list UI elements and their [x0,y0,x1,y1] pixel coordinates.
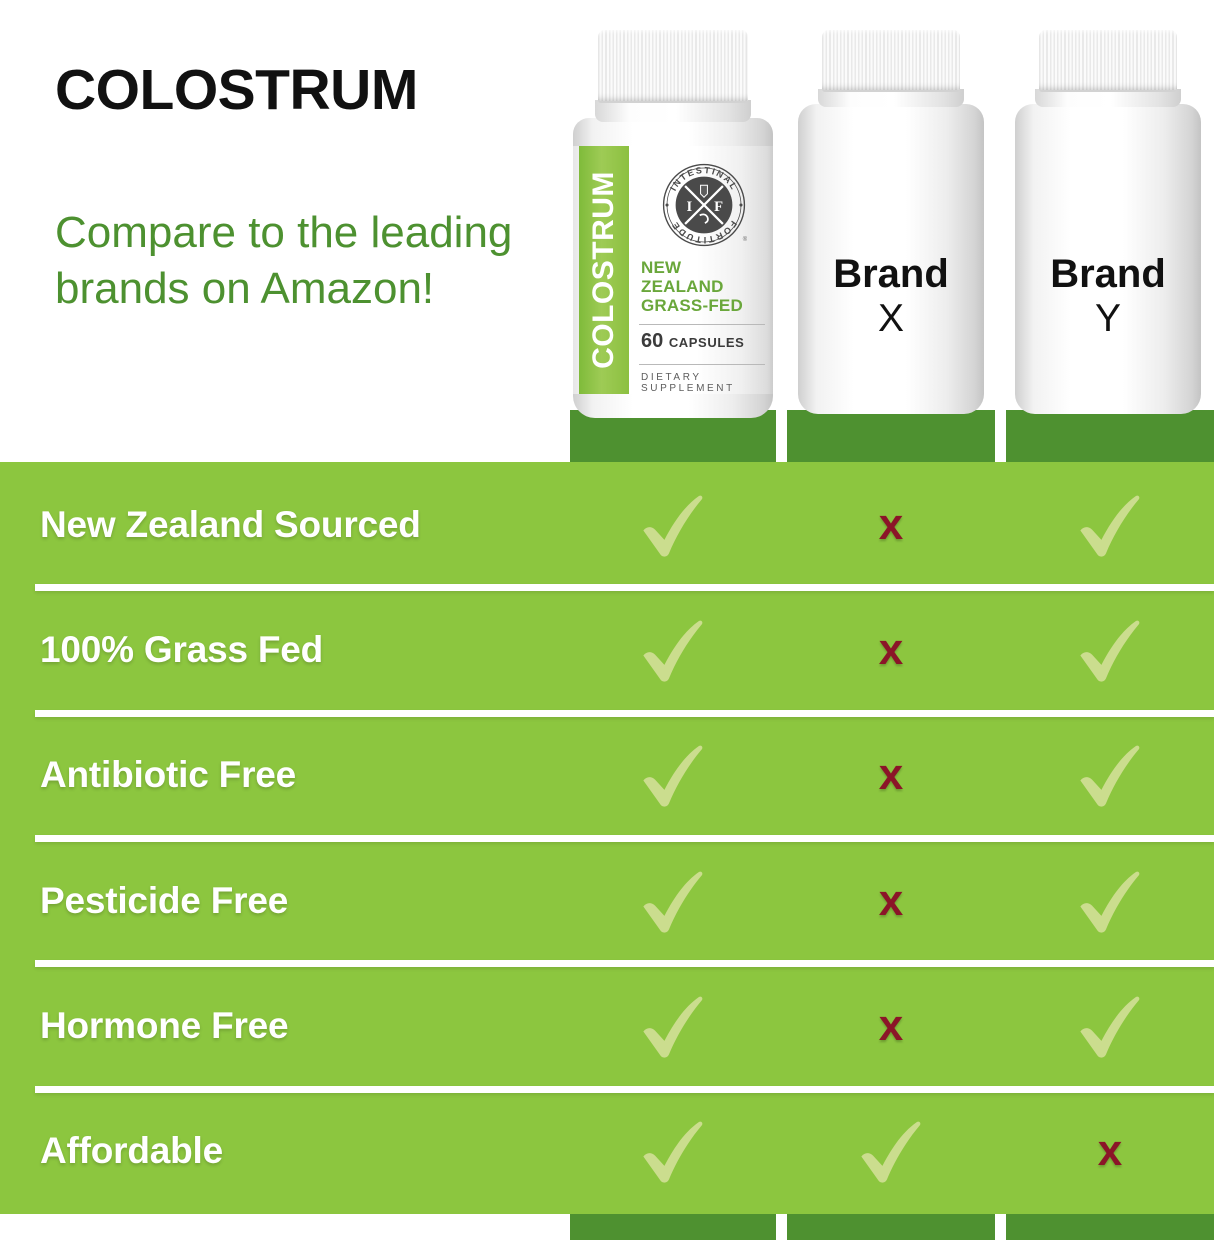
label-capsule-count: 60 CAPSULES [641,330,744,353]
brand-label: Brand Y [1015,252,1201,340]
label-divider-bottom [639,364,765,365]
intestinal-fortitude-logo-icon: INTESTINAL FORTITUDE I F ® [661,162,747,248]
cell-brand-x-no: x [787,713,995,838]
cell-brand-y-yes [1006,838,1214,963]
cell-brand-y-yes [1006,713,1214,838]
check-icon [1071,608,1149,692]
table-row: Pesticide Freex [0,838,1214,963]
brand-name-line-1: Brand [1050,252,1166,296]
comparison-table: New Zealand Sourcedx100% Grass FedxAntib… [0,462,1214,1214]
cell-brand-x-no: x [787,963,995,1088]
brand-label: Brand X [798,252,984,340]
cell-brand-y-yes [1006,462,1214,587]
bottle-body: COLOSTRUM INTESTINAL FORTITUDE [573,118,773,418]
check-icon [1071,483,1149,567]
x-icon: x [879,1004,903,1048]
x-icon: x [879,503,903,547]
cell-brand-x-no: x [787,587,995,712]
cell-colostrum-yes [570,587,776,712]
cell-colostrum-yes [570,963,776,1088]
cell-brand-x-no: x [787,462,995,587]
cell-brand-y-yes [1006,587,1214,712]
label-line-3: GRASS-FED [641,296,763,315]
competitor-bottle-brand-y: Brand Y [1012,26,1204,410]
table-row: Antibiotic Freex [0,713,1214,838]
label-content: INTESTINAL FORTITUDE I F ® [635,146,767,394]
bottle-cap [1039,30,1177,92]
svg-text:®: ® [742,236,746,243]
label-line-2: ZEALAND [641,277,763,296]
feature-label: Pesticide Free [0,880,570,922]
svg-text:F: F [714,199,723,215]
feature-label: New Zealand Sourced [0,504,570,546]
cell-brand-x-no: x [787,838,995,963]
cell-brand-y-yes [1006,963,1214,1088]
x-icon: x [1098,1129,1122,1173]
label-dietary-supplement: DIETARY SUPPLEMENT [641,372,767,394]
cell-colostrum-yes [570,713,776,838]
check-icon [852,1109,930,1193]
feature-label: Antibiotic Free [0,754,570,796]
label-product-descriptor: NEW ZEALAND GRASS-FED [641,258,763,315]
feature-label: Hormone Free [0,1005,570,1047]
bottle-cap [598,30,748,103]
check-icon [634,859,712,943]
bottle-body: Brand X [798,104,984,414]
label-line-1: NEW [641,258,763,277]
svg-text:I: I [686,199,692,215]
bottle-body: Brand Y [1015,104,1201,414]
x-icon: x [879,753,903,797]
competitor-bottle-brand-x: Brand X [795,26,987,410]
bottle-neck [595,100,751,122]
cell-colostrum-yes [570,838,776,963]
check-icon [634,608,712,692]
label-green-stripe: COLOSTRUM [579,146,629,394]
brand-name-line-1: Brand [833,252,949,296]
bottle-cap [822,30,960,92]
product-bottle-colostrum: COLOSTRUM INTESTINAL FORTITUDE [569,22,777,412]
bottle-vertical-name: COLOSTRUM [587,171,621,369]
check-icon [1071,859,1149,943]
cell-brand-y-no: x [1006,1089,1214,1214]
table-row: Affordablex [0,1089,1214,1214]
bottle-label: COLOSTRUM INTESTINAL FORTITUDE [573,146,773,394]
check-icon [1071,984,1149,1068]
check-icon [634,984,712,1068]
x-icon: x [879,879,903,923]
cell-colostrum-yes [570,462,776,587]
check-icon [634,483,712,567]
cell-brand-x-yes [787,1089,995,1214]
capsule-number: 60 [641,330,663,352]
cell-colostrum-yes [570,1089,776,1214]
brand-name-line-2: X [798,297,984,341]
table-row: Hormone Freex [0,963,1214,1088]
page-title: COLOSTRUM [55,62,418,119]
table-row: New Zealand Sourcedx [0,462,1214,587]
label-divider-top [639,324,765,325]
infographic-canvas: COLOSTRUM Compare to the leading brands … [0,0,1214,1214]
capsule-unit: CAPSULES [669,335,745,350]
x-icon: x [879,628,903,672]
page-subtitle: Compare to the leading brands on Amazon! [55,205,525,318]
brand-name-line-2: Y [1015,297,1201,341]
check-icon [634,1109,712,1193]
table-row: 100% Grass Fedx [0,587,1214,712]
check-icon [1071,733,1149,817]
feature-label: Affordable [0,1130,570,1172]
feature-label: 100% Grass Fed [0,629,570,671]
check-icon [634,733,712,817]
